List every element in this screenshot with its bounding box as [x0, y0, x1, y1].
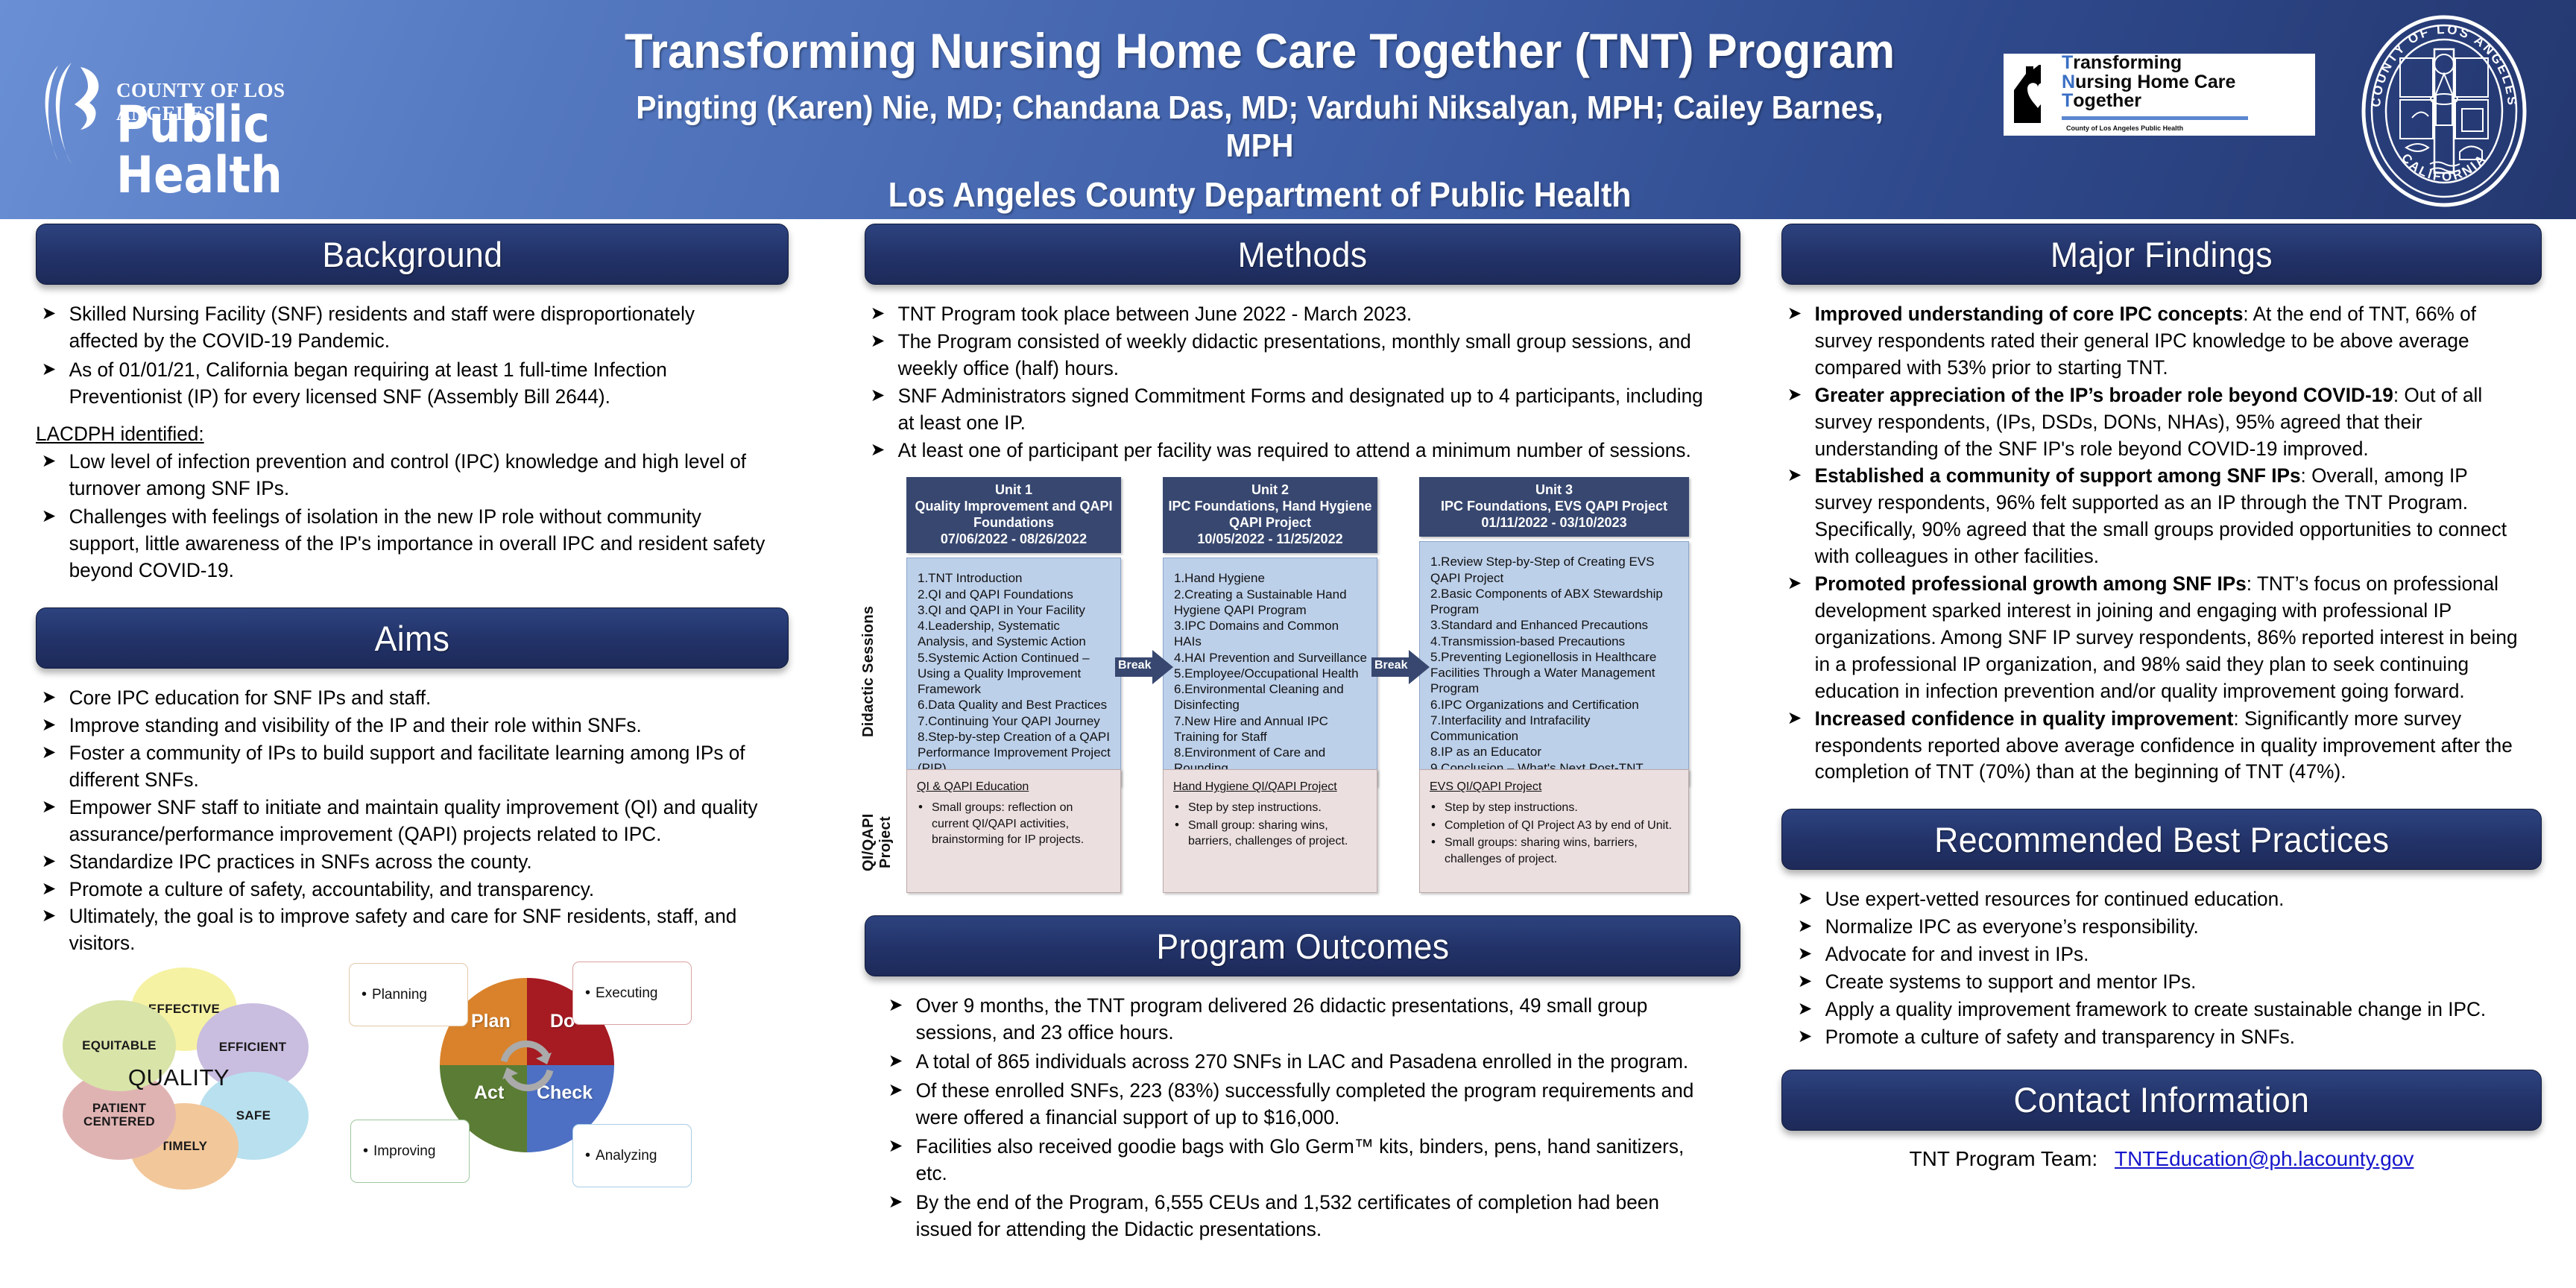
section-banner-contact: Contact Information — [1781, 1070, 2542, 1131]
break-arrow-2-label: Break — [1374, 659, 1407, 672]
qapi-box-2-list: Step by step instructions. Small group: … — [1173, 800, 1369, 850]
finding-lead: Greater appreciation of the IP’s broader… — [1815, 384, 2393, 406]
unit-2-dates: 10/05/2022 - 11/25/2022 — [1167, 531, 1373, 548]
list-item: Small groups: sharing wins, barriers, ch… — [1430, 835, 1681, 867]
list-item: Create systems to support and mentor IPs… — [1792, 969, 2519, 996]
unit-3-header: Unit 3 IPC Foundations, EVS QAPI Project… — [1419, 477, 1689, 537]
quality-center-label: QUALITY — [112, 1055, 246, 1100]
unit-2-sessions: 1.Hand Hygiene 2.Creating a Sustainable … — [1163, 558, 1377, 786]
poster-root: COUNTY OF LOS ANGELES Public Health Tran… — [0, 0, 2576, 1288]
program-outcomes-title: Program Outcomes — [1156, 926, 1449, 967]
pdca-note-analyzing: Analyzing — [572, 1124, 692, 1187]
break-arrow-2-head — [1409, 650, 1430, 684]
list-item: Promoted professional growth among SNF I… — [1781, 571, 2519, 705]
left-column: Background Skilled Nursing Facility (SNF… — [36, 224, 789, 1191]
contact-label: TNT Program Team: — [1910, 1147, 2098, 1170]
qapi-box-1-title: QI & QAPI Education — [917, 779, 1113, 795]
list-item: Low level of infection prevention and co… — [36, 449, 766, 502]
section-banner-background: Background — [36, 224, 789, 285]
methods-bullet-list: TNT Program took place between June 2022… — [865, 301, 1740, 464]
session-item: 8.IP as an Educator — [1430, 744, 1681, 760]
unit-2-name: IPC Foundations, Hand Hygiene QAPI Proje… — [1167, 499, 1373, 531]
middle-column: Methods TNT Program took place between J… — [865, 224, 1740, 1246]
break-arrow-1-label: Break — [1118, 659, 1151, 672]
list-item: As of 01/01/21, California began requiri… — [36, 357, 766, 411]
unit-1-number: Unit 1 — [911, 482, 1117, 499]
major-findings-bullet-list: Improved understanding of core IPC conce… — [1781, 301, 2542, 786]
list-item: Greater appreciation of the IP’s broader… — [1781, 382, 2519, 463]
tnt-logo-text: Transforming Nursing Home Care Together … — [2062, 54, 2308, 135]
session-item: 3.IPC Domains and Common HAIs — [1174, 618, 1369, 650]
section-banner-program-outcomes: Program Outcomes — [865, 915, 1740, 976]
finding-lead: Promoted professional growth among SNF I… — [1815, 572, 2247, 595]
list-item: Promote a culture of safety and transpar… — [1792, 1024, 2519, 1051]
list-item: Foster a community of IPs to build suppo… — [36, 740, 766, 794]
best-practices-bullet-list: Use expert-vetted resources for continue… — [1781, 886, 2542, 1050]
unit-2-number: Unit 2 — [1167, 482, 1373, 499]
list-item: Promote a culture of safety, accountabil… — [36, 877, 766, 903]
tnt-logo-rule — [2062, 116, 2248, 120]
unit-1-name: Quality Improvement and QAPI Foundations — [911, 499, 1117, 531]
qapi-box-2-title: Hand Hygiene QI/QAPI Project — [1173, 779, 1369, 795]
list-item: Facilities also received goodie bags wit… — [883, 1134, 1714, 1187]
list-item: Normalize IPC as everyone’s responsibili… — [1792, 914, 2519, 941]
tnt-logo-line-3: Together — [2062, 92, 2308, 111]
list-item: Skilled Nursing Facility (SNF) residents… — [36, 301, 766, 355]
list-item: At least one of participant per facility… — [865, 438, 1714, 464]
session-item: 5.Employee/Occupational Health — [1174, 666, 1369, 681]
list-item: Of these enrolled SNFs, 223 (83%) succes… — [883, 1078, 1714, 1131]
session-item: 5.Systemic Action Continued – Using a Qu… — [918, 650, 1113, 698]
session-item: 6.Environmental Cleaning and Disinfectin… — [1174, 681, 1369, 713]
unit-1-dates: 07/06/2022 - 08/26/2022 — [911, 531, 1117, 548]
tnt-logo-ph-credit: County of Los Angeles Public Health — [2066, 125, 2183, 132]
major-findings-title: Major Findings — [2051, 234, 2273, 275]
public-health-faces-icon — [36, 61, 107, 165]
qapi-box-unit-2: Hand Hygiene QI/QAPI Project Step by ste… — [1163, 769, 1377, 893]
right-column: Major Findings Improved understanding of… — [1781, 224, 2542, 1171]
session-item: 4.HAI Prevention and Surveillance — [1174, 650, 1369, 666]
qapi-box-unit-1: QI & QAPI Education Small groups: reflec… — [906, 769, 1121, 893]
session-item: 1.Hand Hygiene — [1174, 570, 1369, 586]
qapi-box-3-title: EVS QI/QAPI Project — [1430, 779, 1681, 795]
list-item: Apply a quality improvement framework to… — [1792, 997, 2519, 1023]
list-item: A total of 865 individuals across 270 SN… — [883, 1049, 1714, 1076]
contact-email-link[interactable]: TNTEducation@ph.lacounty.gov — [2115, 1147, 2414, 1170]
list-item: The Program consisted of weekly didactic… — [865, 329, 1714, 382]
unit-column-2: Unit 2 IPC Foundations, Hand Hygiene QAP… — [1163, 477, 1377, 786]
program-units-diagram: Didactic Sessions QI/QAPI Project Unit 1… — [865, 477, 1740, 909]
list-item: Step by step instructions. — [1173, 800, 1369, 816]
list-item: Challenges with feelings of isolation in… — [36, 504, 766, 584]
list-item: SNF Administrators signed Commitment For… — [865, 383, 1714, 437]
methods-title: Methods — [1238, 234, 1368, 275]
background-bullet-list: Skilled Nursing Facility (SNF) residents… — [36, 301, 789, 411]
qapi-box-1-list: Small groups: reflection on current QI/Q… — [917, 800, 1113, 848]
la-county-seal-icon: COUNTY OF LOS ANGELES CALIFORNIA — [2346, 13, 2542, 209]
svg-text:CALIFORNIA: CALIFORNIA — [2399, 151, 2490, 184]
session-item: 2.Basic Components of ABX Stewardship Pr… — [1430, 586, 1681, 618]
poster-header: COUNTY OF LOS ANGELES Public Health Tran… — [0, 0, 2576, 219]
tnt-logo-line-2: Nursing Home Care — [2062, 73, 2308, 92]
quality-venn-diagram: EFFECTIVE EFFICIENT SAFE TIMELY PATIENT … — [51, 967, 319, 1191]
list-item: Increased confidence in quality improvem… — [1781, 706, 2519, 786]
session-item: 2.QI and QAPI Foundations — [918, 587, 1113, 602]
session-item: 7.Interfacility and Intrafacility Commun… — [1430, 713, 1681, 745]
list-item: Core IPC education for SNF IPs and staff… — [36, 685, 766, 712]
contact-title: Contact Information — [2014, 1079, 2310, 1120]
qapi-box-unit-3: EVS QI/QAPI Project Step by step instruc… — [1419, 769, 1689, 893]
unit-3-sessions: 1.Review Step-by-Step of Creating EVS QA… — [1419, 541, 1689, 786]
list-item: Established a community of support among… — [1781, 463, 2519, 570]
aims-title: Aims — [375, 618, 450, 659]
la-county-public-health-logo: COUNTY OF LOS ANGELES Public Health — [36, 61, 349, 165]
session-item: 3.Standard and Enhanced Precautions — [1430, 617, 1681, 633]
unit-1-sessions: 1.TNT Introduction 2.QI and QAPI Foundat… — [906, 558, 1121, 786]
session-item: 6.IPC Organizations and Certification — [1430, 697, 1681, 713]
aims-bullet-list: Core IPC education for SNF IPs and staff… — [36, 685, 789, 957]
finding-lead: Increased confidence in quality improvem… — [1815, 707, 2234, 730]
finding-lead: Established a community of support among… — [1815, 464, 2301, 487]
contact-line: TNT Program Team: TNTEducation@ph.lacoun… — [1781, 1147, 2542, 1171]
list-item: Standardize IPC practices in SNFs across… — [36, 849, 766, 876]
session-item: 7.Continuing Your QAPI Journey — [918, 713, 1113, 729]
list-item: Advocate for and invest in IPs. — [1792, 941, 2519, 968]
list-item: Over 9 months, the TNT program delivered… — [883, 993, 1714, 1046]
session-item: 4.Transmission-based Precautions — [1430, 634, 1681, 649]
poster-affiliation: Los Angeles County Department of Public … — [615, 175, 1904, 215]
poster-authors: Pingting (Karen) Nie, MD; Chandana Das, … — [615, 89, 1904, 165]
poster-title: Transforming Nursing Home Care Together … — [615, 24, 1904, 79]
title-block: Transforming Nursing Home Care Together … — [566, 24, 1953, 215]
break-arrow-1-head — [1152, 650, 1173, 684]
unit-3-number: Unit 3 — [1424, 482, 1685, 499]
section-banner-methods: Methods — [865, 224, 1740, 285]
unit-1-header: Unit 1 Quality Improvement and QAPI Foun… — [906, 477, 1121, 553]
tnt-house-heart-icon — [2011, 65, 2057, 124]
list-item: Step by step instructions. — [1430, 800, 1681, 816]
logo-public-health-line: Public Health — [116, 100, 321, 201]
session-item: 1.Review Step-by-Step of Creating EVS QA… — [1430, 554, 1681, 586]
best-practices-title: Recommended Best Practices — [1934, 819, 2389, 860]
list-item: Completion of QI Project A3 by end of Un… — [1430, 818, 1681, 834]
list-item: Empower SNF staff to initiate and mainta… — [36, 795, 766, 848]
session-item: 7.New Hire and Annual IPC Training for S… — [1174, 713, 1369, 745]
program-outcomes-bullet-list: Over 9 months, the TNT program delivered… — [865, 993, 1740, 1243]
section-banner-best-practices: Recommended Best Practices — [1781, 809, 2542, 870]
session-item: 4.Leadership, Systematic Analysis, and S… — [918, 618, 1113, 650]
break-arrow-2: Break — [1371, 650, 1430, 684]
pdca-cycle-diagram: Plan Do Check Act Planning Executing Imp… — [349, 962, 699, 1194]
session-item: 1.TNT Introduction — [918, 570, 1113, 586]
pdca-note-planning: Planning — [349, 963, 468, 1026]
tnt-logo-footer-row: County of Los Angeles Public Health — [2062, 111, 2308, 136]
list-item: Small group: sharing wins, barriers, cha… — [1173, 818, 1369, 850]
list-item: TNT Program took place between June 2022… — [865, 301, 1714, 328]
list-item: Ultimately, the goal is to improve safet… — [36, 903, 766, 957]
break-arrow-1: Break — [1115, 650, 1173, 684]
row-label-didactic-sessions: Didactic Sessions — [860, 549, 877, 795]
session-item: 6.Data Quality and Best Practices — [918, 697, 1113, 713]
list-item: Improve standing and visibility of the I… — [36, 713, 766, 739]
tnt-program-logo: Transforming Nursing Home Care Together … — [2004, 54, 2315, 136]
background-bullet-list-2: Low level of infection prevention and co… — [36, 449, 789, 585]
svg-text:COUNTY OF LOS ANGELES: COUNTY OF LOS ANGELES — [2369, 22, 2519, 108]
unit-3-dates: 01/11/2022 - 03/10/2023 — [1424, 515, 1685, 531]
row-label-qapi-project: QI/QAPI Project — [860, 786, 894, 898]
finding-lead: Improved understanding of core IPC conce… — [1815, 303, 2244, 325]
pdca-note-improving: Improving — [350, 1120, 470, 1183]
background-subhead: LACDPH identified: — [36, 423, 766, 446]
section-banner-major-findings: Major Findings — [1781, 224, 2542, 285]
unit-3-name: IPC Foundations, EVS QAPI Project — [1424, 499, 1685, 515]
background-title: Background — [322, 234, 502, 275]
qapi-box-3-list: Step by step instructions. Completion of… — [1430, 800, 1681, 867]
tnt-logo-line-1: Transforming — [2062, 54, 2308, 73]
list-item: Improved understanding of core IPC conce… — [1781, 301, 2519, 382]
unit-column-1: Unit 1 Quality Improvement and QAPI Foun… — [906, 477, 1121, 786]
unit-2-header: Unit 2 IPC Foundations, Hand Hygiene QAP… — [1163, 477, 1377, 553]
session-item: 3.QI and QAPI in Your Facility — [918, 602, 1113, 618]
list-item: Use expert-vetted resources for continue… — [1792, 886, 2519, 913]
section-banner-aims: Aims — [36, 607, 789, 669]
unit-column-3: Unit 3 IPC Foundations, EVS QAPI Project… — [1419, 477, 1689, 785]
list-item: By the end of the Program, 6,555 CEUs an… — [883, 1190, 1714, 1243]
session-item: 2.Creating a Sustainable Hand Hygiene QA… — [1174, 587, 1369, 619]
left-diagrams: EFFECTIVE EFFICIENT SAFE TIMELY PATIENT … — [36, 967, 789, 1191]
session-item: 5.Preventing Legionellosis in Healthcare… — [1430, 649, 1681, 697]
pdca-note-executing: Executing — [572, 962, 692, 1025]
list-item: Small groups: reflection on current QI/Q… — [917, 800, 1113, 848]
